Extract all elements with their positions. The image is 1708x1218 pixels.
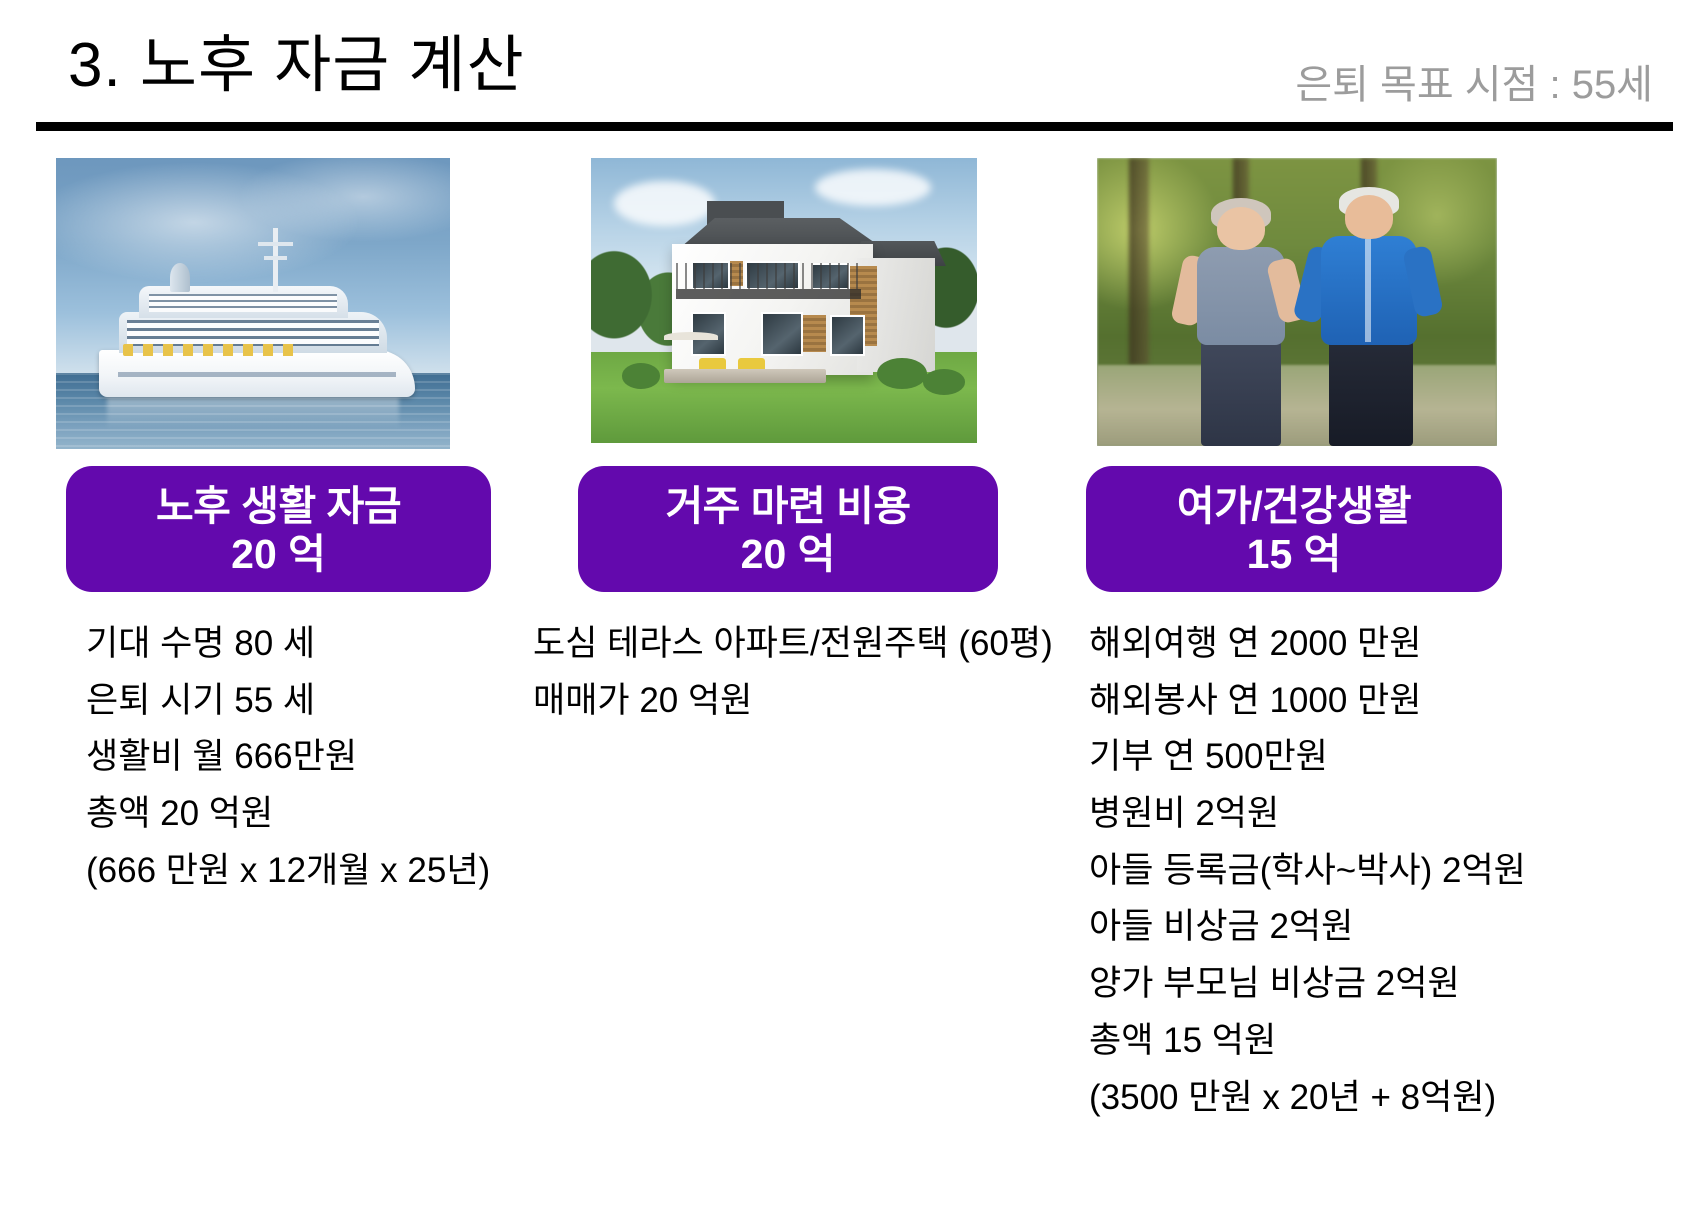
content-columns: 노후 생활 자금 20 억 기대 수명 80 세 은퇴 시기 55 세 생활비 … xyxy=(0,136,1708,1218)
detail-line: 아들 비상금 2억원 xyxy=(1089,899,1689,956)
details-housing-cost: 도심 테라스 아파트/전원주택 (60평) 매매가 20 억원 xyxy=(533,616,1093,729)
details-leisure-health: 해외여행 연 2000 만원 해외봉사 연 1000 만원 기부 연 500만원… xyxy=(1089,616,1689,1126)
details-retirement-living: 기대 수명 80 세 은퇴 시기 55 세 생활비 월 666만원 총액 20 … xyxy=(86,616,606,899)
man-head xyxy=(1345,195,1393,238)
ship-reflection xyxy=(107,397,399,429)
detail-line: 해외여행 연 2000 만원 xyxy=(1089,616,1689,673)
detail-line: 아들 등록금(학사~박사) 2억원 xyxy=(1089,843,1689,900)
header-divider xyxy=(36,122,1673,131)
banner-amount: 15 억 xyxy=(1086,530,1502,578)
house-photo xyxy=(591,158,977,443)
banner-amount: 20 억 xyxy=(66,530,491,578)
terrace xyxy=(664,369,826,383)
detail-line: 은퇴 시기 55 세 xyxy=(86,673,606,730)
banner-title: 여가/건강생활 xyxy=(1086,482,1502,530)
banner-housing-cost: 거주 마련 비용 20 억 xyxy=(578,466,998,592)
house-window xyxy=(761,312,804,356)
banner-title: 노후 생활 자금 xyxy=(66,482,491,530)
walking-path xyxy=(1097,365,1497,446)
ship-mast xyxy=(273,228,279,292)
jacket-zipper xyxy=(1365,239,1371,343)
ship-lifeboats xyxy=(123,344,296,356)
ship-hull xyxy=(99,350,414,397)
tree-trunk xyxy=(1129,158,1149,365)
detail-line: 기대 수명 80 세 xyxy=(86,616,606,673)
ship-funnel xyxy=(170,263,190,292)
detail-line: (3500 만원 x 20년 + 8억원) xyxy=(1089,1070,1689,1127)
cruise-ship-photo xyxy=(56,158,450,449)
house-balcony xyxy=(676,289,861,299)
patio-umbrella xyxy=(664,332,718,341)
jogging-couple-photo xyxy=(1097,158,1497,446)
detail-line: 도심 테라스 아파트/전원주택 (60평) xyxy=(533,616,1093,673)
retirement-target-label: 은퇴 목표 시점 : 55세 xyxy=(1295,52,1653,110)
page-title: 3. 노후 자금 계산 xyxy=(68,14,525,104)
detail-line: 해외봉사 연 1000 만원 xyxy=(1089,673,1689,730)
shrub xyxy=(622,363,661,389)
detail-line: 생활비 월 666만원 xyxy=(86,729,606,786)
house-window xyxy=(830,315,865,356)
wood-cladding xyxy=(803,315,826,352)
banner-leisure-health: 여가/건강생활 15 억 xyxy=(1086,466,1502,592)
banner-title: 거주 마련 비용 xyxy=(578,482,998,530)
banner-retirement-living: 노후 생활 자금 20 억 xyxy=(66,466,491,592)
detail-line: 병원비 2억원 xyxy=(1089,786,1689,843)
detail-line: 총액 15 억원 xyxy=(1089,1013,1689,1070)
detail-line: 기부 연 500만원 xyxy=(1089,729,1689,786)
detail-line: 매매가 20 억원 xyxy=(533,673,1093,730)
shrub xyxy=(923,369,965,395)
woman-head xyxy=(1217,207,1265,250)
shrub xyxy=(877,358,927,389)
detail-line: 총액 20 억원 xyxy=(86,786,606,843)
banner-amount: 20 억 xyxy=(578,530,998,578)
detail-line: (666 만원 x 12개월 x 25년) xyxy=(86,843,606,900)
woman-legs xyxy=(1201,337,1281,446)
detail-line: 양가 부모님 비상금 2억원 xyxy=(1089,956,1689,1013)
slide-header: 3. 노후 자금 계산 은퇴 목표 시점 : 55세 xyxy=(0,0,1708,136)
man-legs xyxy=(1329,337,1413,446)
